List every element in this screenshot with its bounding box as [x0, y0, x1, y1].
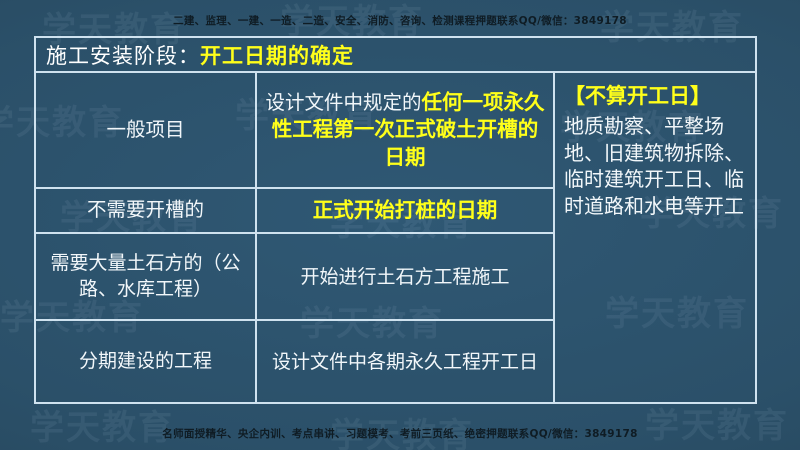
slide-canvas: 学天教育 学天教育 学天教育 学天教育 学天教育 学天教育 学天教育 学天教育 …: [0, 0, 800, 450]
row-category-cell: 一般项目: [36, 73, 257, 187]
start-date-determination-table: 施工安装阶段：开工日期的确定 一般项目 设计文件中规定的任何一项永久性工程第一次…: [34, 36, 757, 404]
row-category-label: 需要大量土石方的（公路、水库工程）: [42, 251, 249, 302]
row-category-cell: 不需要开槽的: [36, 189, 257, 232]
definition-highlight-part: 正式开始打桩的日期: [313, 198, 498, 222]
definition-plain-part: 设计文件中规定的: [265, 91, 421, 114]
note-title: 【不算开工日】: [564, 83, 748, 110]
table-row: 需要大量土石方的（公路、水库工程） 开始进行土石方工程施工: [36, 234, 553, 321]
row-definition-cell: 设计文件中规定的任何一项永久性工程第一次正式破土开槽的日期: [257, 73, 553, 187]
watermark-text: 学天教育: [30, 400, 174, 449]
header-topic-label: 开工日期的确定: [200, 40, 354, 70]
note-body: 地质勘察、平整场地、旧建筑物拆除、临时建筑开工日、临时道路和水电等开工: [564, 113, 748, 220]
header-stage-label: 施工安装阶段：: [46, 40, 200, 70]
row-category-cell: 需要大量土石方的（公路、水库工程）: [36, 234, 257, 319]
table-row: 一般项目 设计文件中规定的任何一项永久性工程第一次正式破土开槽的日期: [36, 73, 553, 189]
promo-banner-bottom: 名师面授精华、央企内训、考点串讲、习题模考、考前三页纸、绝密押题联系QQ/微信：…: [0, 426, 800, 441]
not-start-date-note-cell: 【不算开工日】 地质勘察、平整场地、旧建筑物拆除、临时建筑开工日、临时道路和水电…: [555, 73, 755, 402]
row-definition-text: 开始进行土石方工程施工: [300, 263, 509, 290]
row-definition-cell: 设计文件中各期永久工程开工日: [257, 321, 553, 402]
table-row: 分期建设的工程 设计文件中各期永久工程开工日: [36, 321, 553, 402]
row-definition-text: 正式开始打桩的日期: [313, 197, 498, 224]
table-body: 一般项目 设计文件中规定的任何一项永久性工程第一次正式破土开槽的日期 不需要开槽…: [36, 73, 755, 402]
promo-banner-top: 二建、监理、一建、一造、二造、安全、消防、咨询、检测课程押题联系QQ/微信：38…: [0, 13, 800, 28]
row-definition-text: 设计文件中各期永久工程开工日: [272, 348, 538, 375]
row-category-cell: 分期建设的工程: [36, 321, 257, 402]
row-definition-cell: 开始进行土石方工程施工: [257, 234, 553, 319]
row-definition-text: 设计文件中规定的任何一项永久性工程第一次正式破土开槽的日期: [265, 89, 545, 171]
row-category-label: 不需要开槽的: [87, 197, 204, 223]
table-left-columns: 一般项目 设计文件中规定的任何一项永久性工程第一次正式破土开槽的日期 不需要开槽…: [36, 73, 555, 402]
row-category-label: 分期建设的工程: [79, 349, 212, 374]
table-header-row: 施工安装阶段：开工日期的确定: [36, 38, 755, 73]
definition-plain-part: 开始进行土石方工程施工: [300, 266, 509, 288]
row-category-label: 一般项目: [106, 117, 184, 143]
row-definition-cell: 正式开始打桩的日期: [257, 189, 553, 232]
table-row: 不需要开槽的 正式开始打桩的日期: [36, 189, 553, 234]
definition-plain-part: 设计文件中各期永久工程开工日: [272, 351, 538, 373]
